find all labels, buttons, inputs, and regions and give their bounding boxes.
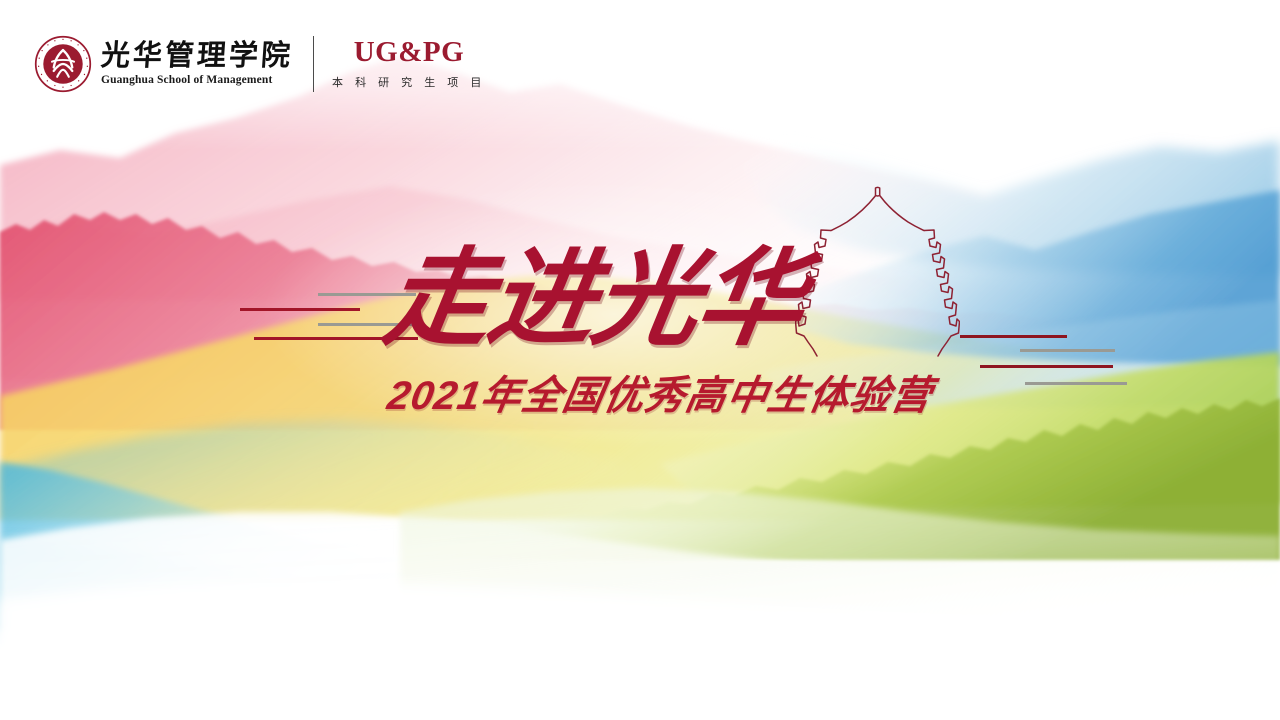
decorative-rule-right-2 xyxy=(1020,349,1115,352)
decorative-rule-right-1 xyxy=(960,335,1067,338)
program-name-cn: 本 科 研 究 生 项 目 xyxy=(332,74,486,90)
school-name-en: Guanghua School of Management xyxy=(101,74,293,86)
decorative-rules-right xyxy=(960,335,1145,385)
school-name-block: 光华管理学院 Guanghua School of Management xyxy=(101,42,293,87)
decorative-rule-right-4 xyxy=(1025,382,1127,385)
page-title: 走进光华 xyxy=(378,246,811,352)
decorative-rule-right-3 xyxy=(980,365,1113,368)
program-block: UG&PG 本 科 研 究 生 项 目 xyxy=(332,38,486,90)
peking-university-seal-icon xyxy=(34,35,92,93)
logo-divider xyxy=(313,36,314,92)
presentation-slide: 光华管理学院 Guanghua School of Management UG&… xyxy=(0,0,1280,720)
brand-header: 光华管理学院 Guanghua School of Management UG&… xyxy=(34,26,486,102)
page-subtitle: 2021年全国优秀高中生体验营 xyxy=(384,376,935,416)
school-name-cn: 光华管理学院 xyxy=(100,42,294,72)
decorative-rule-left-2 xyxy=(240,308,360,311)
program-abbr: UG&PG xyxy=(354,38,464,67)
boya-pagoda-icon xyxy=(795,176,960,371)
